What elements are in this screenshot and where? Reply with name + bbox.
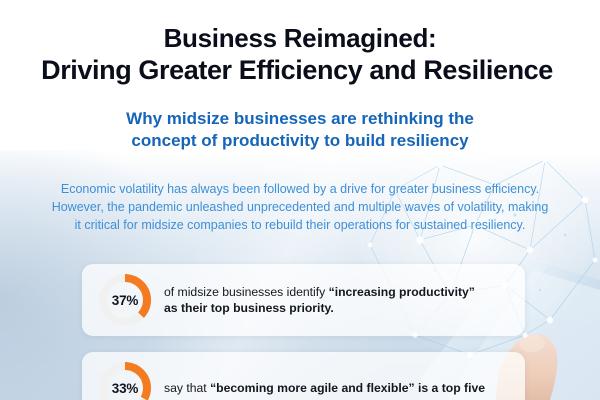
intro-paragraph: Economic volatility has always been foll… [0,180,600,234]
donut-percent-label: 37% [96,271,154,329]
page-subtitle: Why midsize businesses are rethinking th… [0,108,600,152]
stat-card-text: of midsize businesses identify “increasi… [164,284,475,316]
intro-line-2: However, the pandemic unleashed unpreced… [0,198,600,216]
stat-text-bold-1: “becoming more agile and flexible” is a … [210,381,485,395]
stat-card-text: say that “becoming more agile and flexib… [164,380,485,396]
title-line-2: Driving Greater Efficiency and Resilienc… [0,54,600,86]
donut-chart: 33% [96,359,154,400]
stat-card: 33% say that “becoming more agile and fl… [82,352,525,400]
stat-text-plain: of midsize businesses identify [164,285,329,299]
donut-percent-label: 33% [96,359,154,400]
stat-card: 37% of midsize businesses identify “incr… [82,264,525,336]
intro-line-3: it critical for midsize companies to reb… [0,216,600,234]
subtitle-line-1: Why midsize businesses are rethinking th… [0,108,600,130]
intro-line-1: Economic volatility has always been foll… [0,180,600,198]
subtitle-line-2: concept of productivity to build resilie… [0,130,600,152]
infographic-page: Business Reimagined: Driving Greater Eff… [0,0,600,400]
donut-chart: 37% [96,271,154,329]
stat-text-plain: say that [164,381,210,395]
stat-text-bold-1: “increasing productivity” [329,285,475,299]
title-line-1: Business Reimagined: [0,22,600,54]
page-title: Business Reimagined: Driving Greater Eff… [0,22,600,86]
stat-text-bold-2: as their top business priority. [164,301,334,315]
